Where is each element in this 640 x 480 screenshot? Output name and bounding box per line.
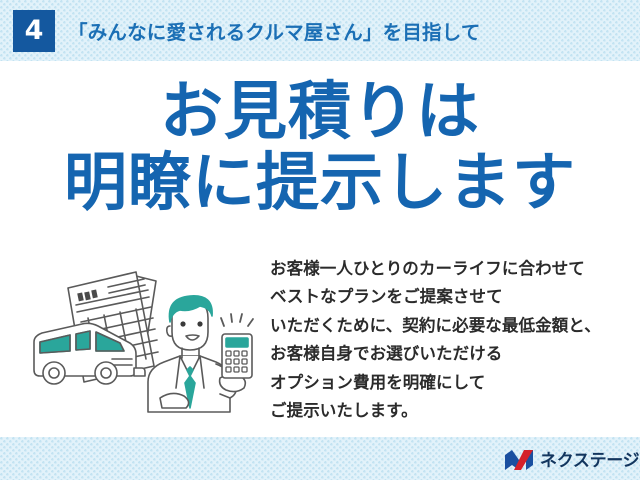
headline-line-1: お見積りは [0, 78, 640, 145]
calculator-icon [222, 334, 252, 378]
headline: お見積りは 明瞭に提示します [0, 78, 640, 217]
sparkle-icon [221, 314, 253, 326]
body-copy: お客様一人ひとりのカーライフに合わせて ベストなプランをご提案させて いただくた… [270, 255, 630, 425]
body-line: いただくために、契約に必要な最低金額と、 [270, 312, 630, 340]
brand-logo-lockup: ネクステージ [504, 448, 639, 472]
body-line: ベストなプランをご提案させて [270, 283, 630, 311]
nextage-n-logo-icon [504, 449, 534, 471]
body-line: お客様自身でお選びいただける [270, 340, 630, 368]
header: 4 「みんなに愛されるクルマ屋さん」を目指して [0, 0, 640, 61]
header-title: 「みんなに愛されるクルマ屋さん」を目指して [68, 16, 481, 45]
illustration-svg [24, 256, 264, 416]
body-line: ご提示いたします。 [270, 397, 630, 425]
brand-wordmark: ネクステージ [540, 452, 639, 469]
salesman-estimate-illustration [24, 256, 264, 416]
headline-line-2: 明瞭に提示します [0, 149, 640, 216]
body-line: お客様一人ひとりのカーライフに合わせて [270, 255, 630, 283]
step-number-badge: 4 [13, 10, 55, 52]
body-line: オプション費用を明確にして [270, 369, 630, 397]
promo-banner: 4 「みんなに愛されるクルマ屋さん」を目指して お見積りは 明瞭に提示します お… [0, 0, 640, 480]
